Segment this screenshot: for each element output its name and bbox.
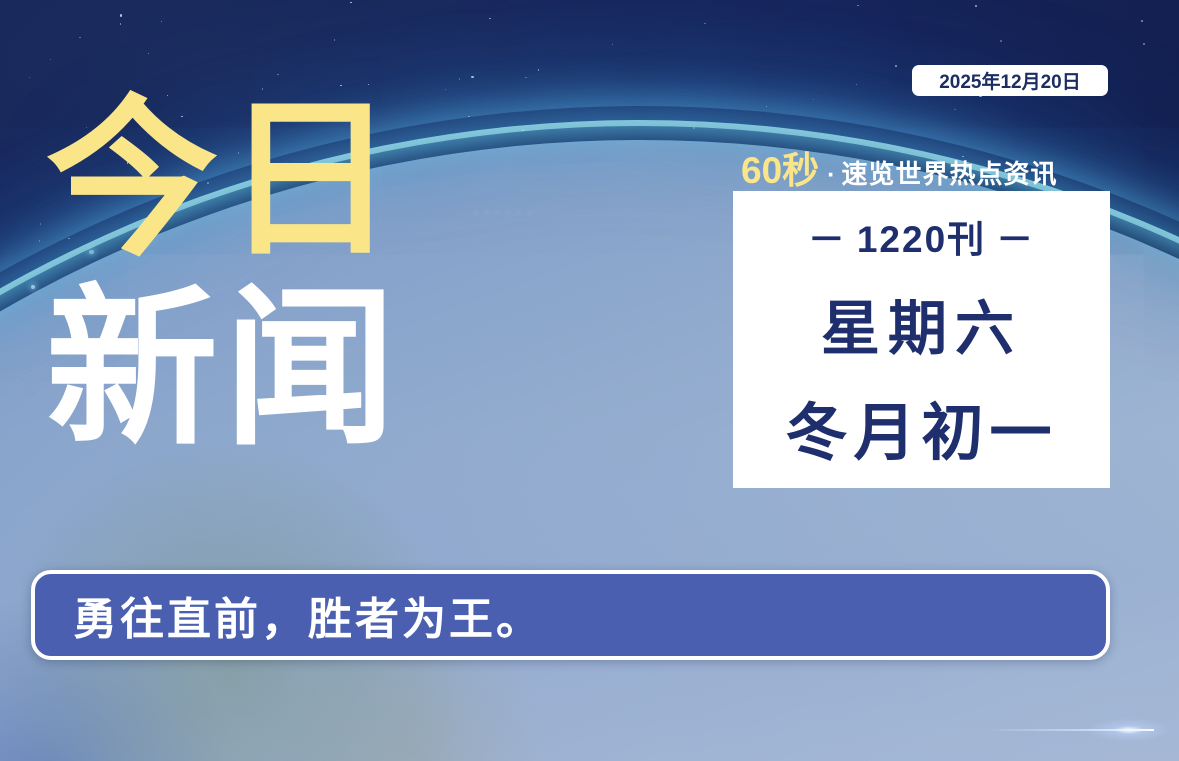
slogan-banner: 勇往直前，胜者为王。 — [31, 570, 1110, 660]
title-line-xinwen: 新闻 — [46, 285, 402, 454]
date-badge: 2025年12月20日 — [912, 65, 1108, 96]
title-line-jinri: 今日 — [46, 96, 402, 265]
tagline: 60秒 · 速览世界热点资讯 — [741, 140, 1058, 194]
issue-dash-right: － — [986, 219, 1045, 260]
tagline-text: 速览世界热点资讯 — [841, 154, 1057, 191]
weekday-label: 星期六 — [821, 281, 1022, 366]
news-poster: •••••• 今日 新闻 2025年12月20日 60秒 · 速览世界热点资讯 … — [0, 0, 1179, 761]
background-watermark: •••••• — [472, 200, 536, 226]
issue-number: 1220刊 — [857, 219, 986, 260]
date-badge-label: 2025年12月20日 — [939, 67, 1081, 94]
poster-title: 今日 新闻 — [46, 96, 402, 453]
issue-number-row: －1220刊－ — [798, 209, 1045, 263]
tagline-separator: · — [819, 161, 841, 190]
issue-dash-left: － — [798, 219, 857, 260]
lunar-date-label: 冬月初一 — [785, 382, 1057, 472]
slogan-text: 勇往直前，胜者为王。 — [73, 583, 543, 647]
tagline-highlight: 60秒 — [741, 140, 819, 194]
issue-card: －1220刊－ 星期六 冬月初一 — [733, 191, 1110, 488]
